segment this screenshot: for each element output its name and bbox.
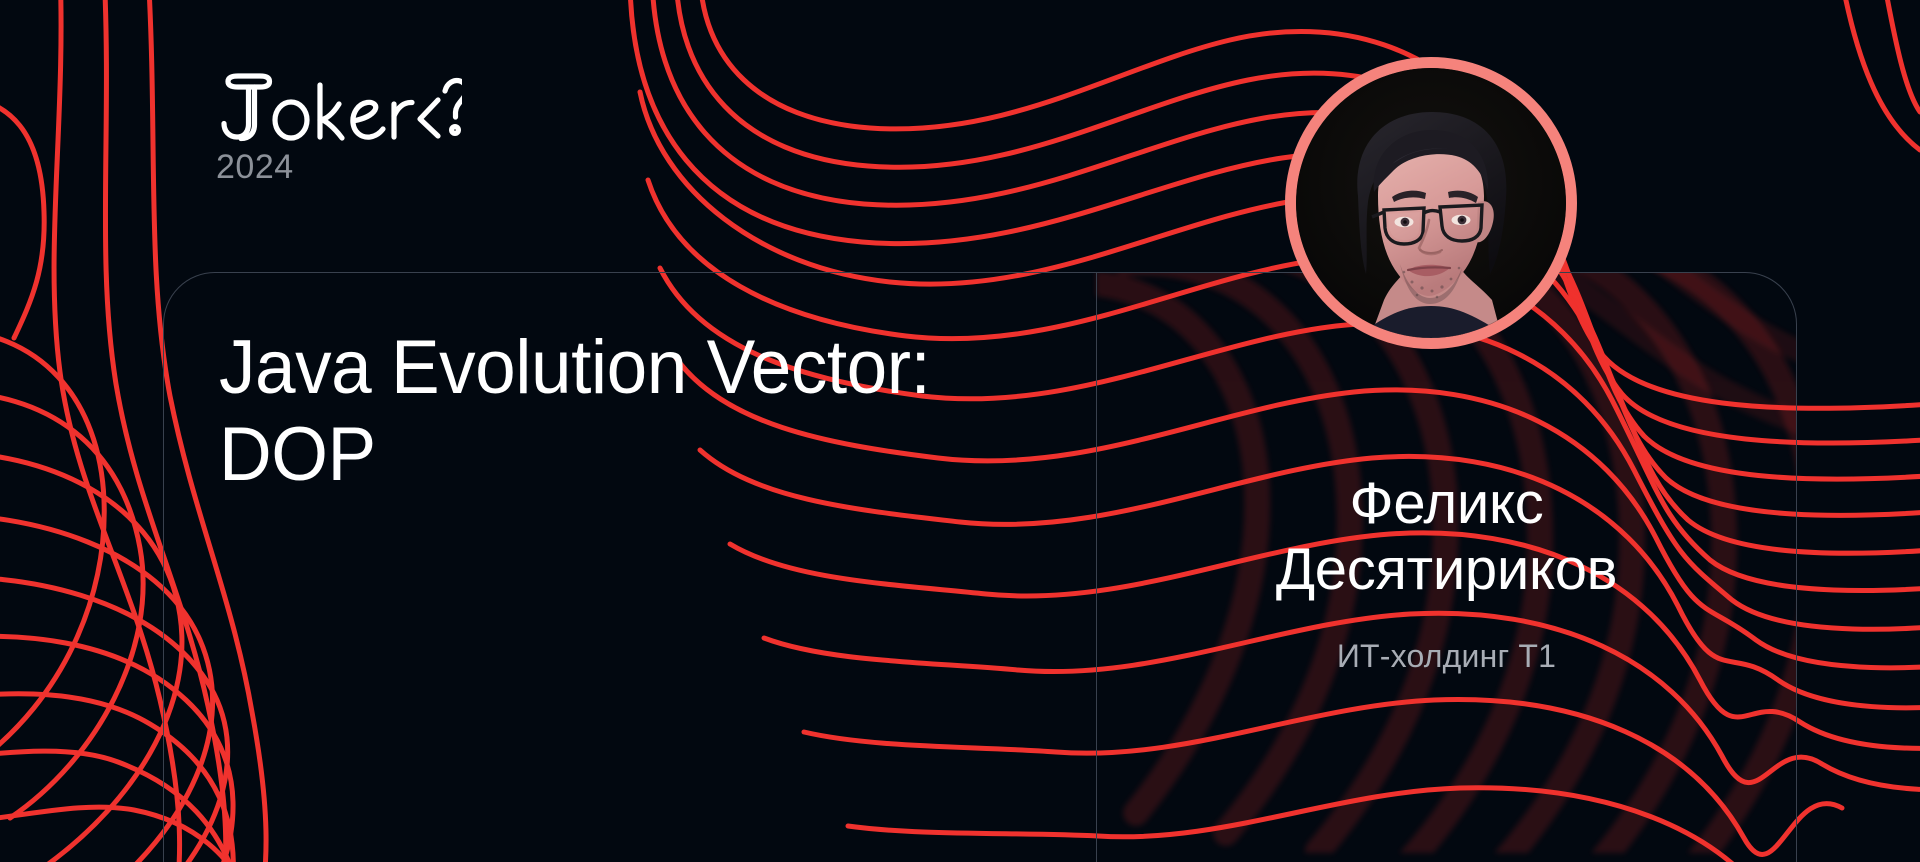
talk-card: Java Evolution Vector: DOP Феликс Десяти… [163,272,1797,862]
talk-title-pane: Java Evolution Vector: DOP [164,273,1096,862]
logo-year: 2024 [216,150,536,184]
joker-wordmark-icon [216,72,462,144]
speaker-company: ИТ-холдинг Т1 [1127,637,1767,675]
joker-logo: 2024 [216,72,536,184]
speaker-pane: Феликс Десятириков ИТ-холдинг Т1 [1097,273,1796,862]
speaker-name: Феликс Десятириков [1127,471,1767,603]
talk-title: Java Evolution Vector: DOP [219,325,1023,498]
speaker-avatar [1285,57,1577,349]
speaker-avatar-photo [1296,68,1566,338]
conference-talk-banner: 2024 Java Evolution Vector: DOP [0,0,1920,862]
